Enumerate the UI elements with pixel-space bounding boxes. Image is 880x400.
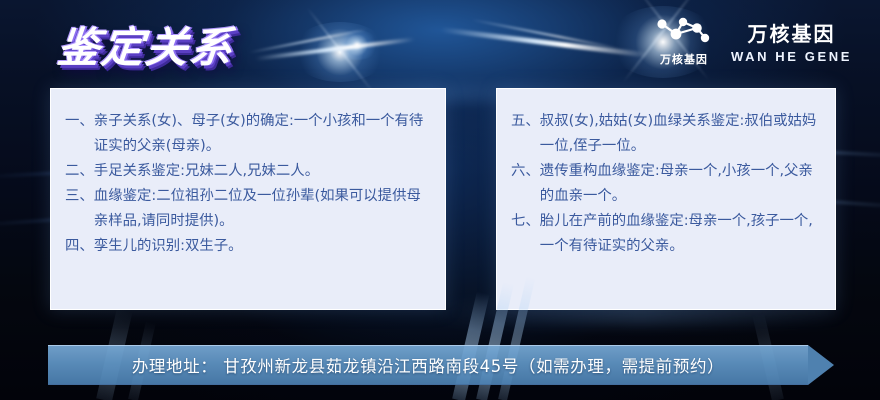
- address-bar-arrow-icon: [808, 345, 834, 385]
- list-item-text: 遗传重构血缘鉴定:母亲一个,小孩一个,父亲的血亲一个。: [540, 159, 821, 209]
- service-list-panel-right: 五、 叔叔(女),姑姑(女)血绿关系鉴定:叔伯或姑妈一位,侄子一位。 六、 遗传…: [496, 88, 836, 310]
- page-title: 鉴定关系: [55, 14, 237, 75]
- logo-name-cn: 万核基因: [747, 18, 835, 47]
- list-item: 五、 叔叔(女),姑姑(女)血绿关系鉴定:叔伯或姑妈一位,侄子一位。: [511, 109, 821, 159]
- list-item-text: 胎儿在产前的血缘鉴定:母亲一个,孩子一个,一个有待证实的父亲。: [540, 209, 821, 259]
- list-item-number: 五、: [511, 109, 540, 159]
- list-item-number: 七、: [511, 209, 540, 259]
- logo-mark-label: 万核基因: [660, 51, 708, 67]
- brand-logo: 万核基因 万核基因 WAN HE GENE: [653, 14, 852, 67]
- logo-mark: 万核基因: [653, 14, 715, 67]
- list-item-number: 四、: [65, 234, 94, 259]
- list-item-number: 六、: [511, 159, 540, 209]
- molecule-icon: [653, 14, 715, 48]
- logo-wordmark: 万核基因 WAN HE GENE: [731, 18, 852, 64]
- address-text: 办理地址： 甘孜州新龙县茹龙镇沿江西路南段45号（如需办理，需提前预约）: [132, 353, 724, 377]
- poster-header: 鉴定关系: [0, 0, 880, 88]
- panel-left-content: 一、 亲子关系(女)、母子(女)的确定:一个小孩和一个有待证实的父亲(母亲)。 …: [51, 89, 445, 259]
- list-item-text: 孪生儿的识别:双生子。: [94, 234, 431, 259]
- list-item-text: 血缘鉴定:二位祖孙二位及一位孙辈(如果可以提供母亲样品,请同时提供)。: [94, 184, 431, 234]
- list-item: 三、 血缘鉴定:二位祖孙二位及一位孙辈(如果可以提供母亲样品,请同时提供)。: [65, 184, 431, 234]
- list-item: 七、 胎儿在产前的血缘鉴定:母亲一个,孩子一个,一个有待证实的父亲。: [511, 209, 821, 259]
- panel-right-content: 五、 叔叔(女),姑姑(女)血绿关系鉴定:叔伯或姑妈一位,侄子一位。 六、 遗传…: [497, 89, 835, 259]
- list-item: 四、 孪生儿的识别:双生子。: [65, 234, 431, 259]
- list-item-text: 亲子关系(女)、母子(女)的确定:一个小孩和一个有待证实的父亲(母亲)。: [94, 109, 431, 159]
- list-item: 一、 亲子关系(女)、母子(女)的确定:一个小孩和一个有待证实的父亲(母亲)。: [65, 109, 431, 159]
- list-item: 二、 手足关系鉴定:兄妹二人,兄妹二人。: [65, 159, 431, 184]
- list-item-text: 叔叔(女),姑姑(女)血绿关系鉴定:叔伯或姑妈一位,侄子一位。: [540, 109, 821, 159]
- list-item-number: 二、: [65, 159, 94, 184]
- poster-canvas: 鉴定关系: [0, 0, 880, 400]
- logo-name-en: WAN HE GENE: [731, 49, 852, 64]
- list-item: 六、 遗传重构血缘鉴定:母亲一个,小孩一个,父亲的血亲一个。: [511, 159, 821, 209]
- address-bar: 办理地址： 甘孜州新龙县茹龙镇沿江西路南段45号（如需办理，需提前预约）: [48, 345, 808, 385]
- service-list-panel-left: 一、 亲子关系(女)、母子(女)的确定:一个小孩和一个有待证实的父亲(母亲)。 …: [50, 88, 446, 310]
- list-item-text: 手足关系鉴定:兄妹二人,兄妹二人。: [94, 159, 431, 184]
- list-item-number: 三、: [65, 184, 94, 234]
- list-item-number: 一、: [65, 109, 94, 159]
